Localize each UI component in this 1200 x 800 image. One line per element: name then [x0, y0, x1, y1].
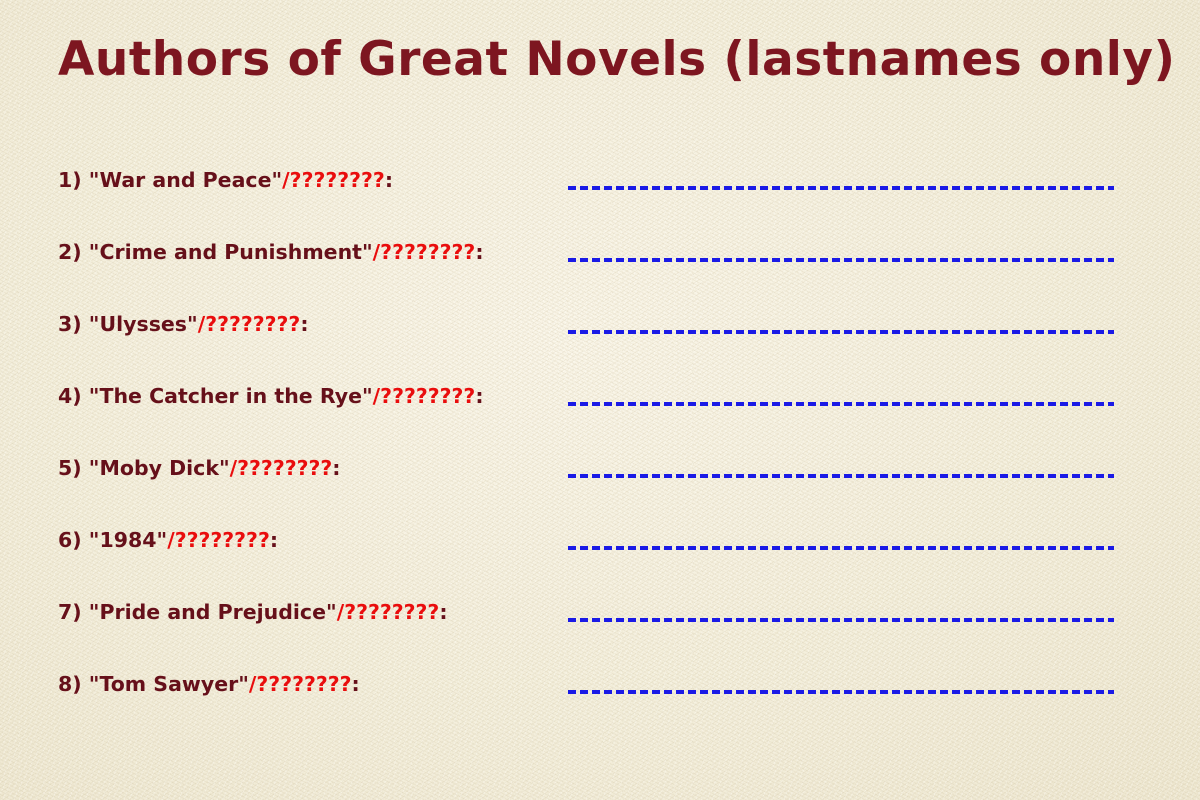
question-row: 8) "Tom Sawyer"/????????: — [0, 669, 1200, 719]
novel-title: "Moby Dick" — [89, 456, 230, 480]
separator-slash: / — [282, 168, 290, 192]
question-number: 7) — [58, 600, 82, 624]
author-blank: ???????? — [380, 240, 475, 264]
question-number: 3) — [58, 312, 82, 336]
page-title: Authors of Great Novels (lastnames only) — [58, 36, 1158, 83]
author-blank: ???????? — [237, 456, 332, 480]
answer-line[interactable] — [568, 618, 1114, 622]
novel-title: "War and Peace" — [89, 168, 282, 192]
question-number: 8) — [58, 672, 82, 696]
question-number: 4) — [58, 384, 82, 408]
question-number: 5) — [58, 456, 82, 480]
trailing-colon: : — [385, 168, 393, 192]
question-prompt: 7) "Pride and Prejudice"/????????: — [58, 597, 448, 627]
question-prompt: 8) "Tom Sawyer"/????????: — [58, 669, 360, 699]
question-prompt: 6) "1984"/????????: — [58, 525, 278, 555]
author-blank: ???????? — [256, 672, 351, 696]
question-number: 1) — [58, 168, 82, 192]
author-blank: ???????? — [175, 528, 270, 552]
question-prompt: 4) "The Catcher in the Rye"/????????: — [58, 381, 484, 411]
trailing-colon: : — [352, 672, 360, 696]
question-row: 6) "1984"/????????: — [0, 525, 1200, 575]
trailing-colon: : — [332, 456, 340, 480]
question-row: 1) "War and Peace"/????????: — [0, 165, 1200, 215]
question-row: 4) "The Catcher in the Rye"/????????: — [0, 381, 1200, 431]
answer-line[interactable] — [568, 258, 1114, 262]
trailing-colon: : — [439, 600, 447, 624]
novel-title: "Tom Sawyer" — [89, 672, 249, 696]
worksheet-content: Authors of Great Novels (lastnames only)… — [0, 0, 1200, 800]
question-number: 2) — [58, 240, 82, 264]
trailing-colon: : — [475, 384, 483, 408]
question-number: 6) — [58, 528, 82, 552]
question-prompt: 3) "Ulysses"/????????: — [58, 309, 309, 339]
novel-title: "Ulysses" — [89, 312, 198, 336]
answer-line[interactable] — [568, 186, 1114, 190]
author-blank: ???????? — [344, 600, 439, 624]
author-blank: ???????? — [290, 168, 385, 192]
question-row: 2) "Crime and Punishment"/????????: — [0, 237, 1200, 287]
author-blank: ???????? — [205, 312, 300, 336]
question-row: 3) "Ulysses"/????????: — [0, 309, 1200, 359]
question-prompt: 1) "War and Peace"/????????: — [58, 165, 393, 195]
answer-line[interactable] — [568, 402, 1114, 406]
novel-title: "Crime and Punishment" — [89, 240, 373, 264]
novel-title: "Pride and Prejudice" — [89, 600, 337, 624]
trailing-colon: : — [475, 240, 483, 264]
question-prompt: 5) "Moby Dick"/????????: — [58, 453, 340, 483]
question-row: 7) "Pride and Prejudice"/????????: — [0, 597, 1200, 647]
answer-line[interactable] — [568, 690, 1114, 694]
question-prompt: 2) "Crime and Punishment"/????????: — [58, 237, 484, 267]
novel-title: "The Catcher in the Rye" — [89, 384, 373, 408]
author-blank: ???????? — [380, 384, 475, 408]
trailing-colon: : — [300, 312, 308, 336]
answer-line[interactable] — [568, 474, 1114, 478]
trailing-colon: : — [270, 528, 278, 552]
novel-title: "1984" — [89, 528, 167, 552]
question-row: 5) "Moby Dick"/????????: — [0, 453, 1200, 503]
answer-line[interactable] — [568, 546, 1114, 550]
separator-slash: / — [167, 528, 175, 552]
answer-line[interactable] — [568, 330, 1114, 334]
